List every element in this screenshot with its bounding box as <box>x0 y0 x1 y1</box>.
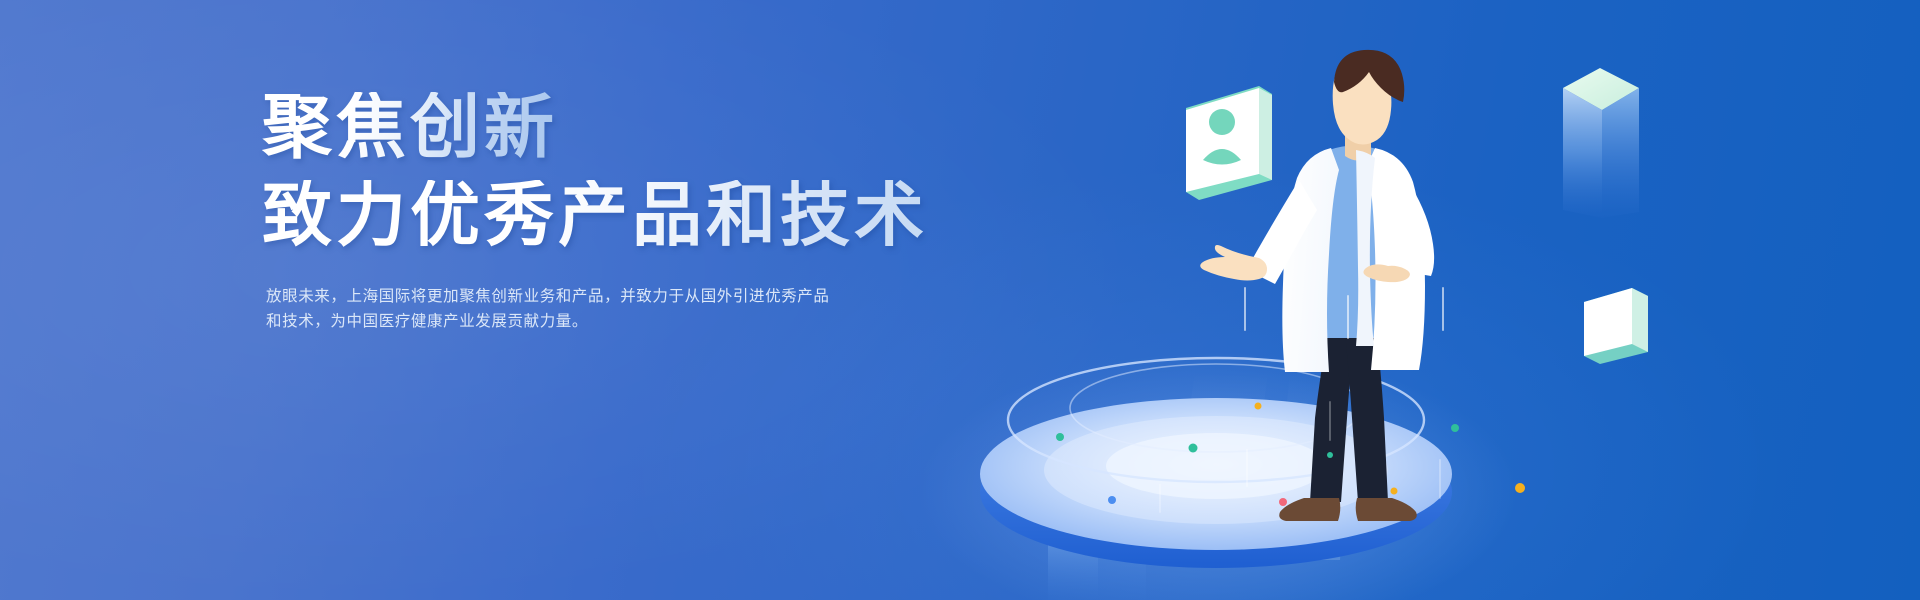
particle-teal <box>1056 433 1064 441</box>
bar-left <box>1048 414 1146 600</box>
hand-point <box>1200 245 1267 281</box>
hand-hip <box>1363 264 1409 282</box>
shoe-right <box>1356 498 1417 521</box>
particle-yellow <box>1391 488 1398 495</box>
headline-line-2-text: 致力优秀产品和技术 <box>262 180 928 250</box>
arm-left <box>1247 180 1317 284</box>
profile-card-icon <box>1186 86 1272 200</box>
description-line-2: 和技术，为中国医疗健康产业发展贡献力量。 <box>266 309 866 334</box>
coat-lapel <box>1356 150 1375 346</box>
headline-line-2: 致力优秀产品和技术 <box>262 180 902 250</box>
platform-ring-inner <box>1070 364 1362 452</box>
particle-blue <box>1108 496 1116 504</box>
particle-teal <box>1451 424 1459 432</box>
doctor-figure <box>1200 50 1434 521</box>
particle-pink <box>1279 498 1287 506</box>
leg-left <box>1310 322 1356 502</box>
hero-banner: 聚焦创新 致力优秀产品和技术 放眼未来，上海国际将更加聚焦创新业务和产品，并致力… <box>0 0 1920 600</box>
avatar-glyph <box>1203 109 1241 165</box>
banner-copy: 聚焦创新 致力优秀产品和技术 放眼未来，上海国际将更加聚焦创新业务和产品，并致力… <box>262 92 902 334</box>
particle-teal <box>1189 444 1198 453</box>
particle-yellow <box>1515 483 1525 493</box>
headline-line-1-text: 聚焦创新 <box>262 92 558 162</box>
banner-description: 放眼未来，上海国际将更加聚焦创新业务和产品，并致力于从国外引进优秀产品 和技术，… <box>266 284 866 334</box>
headline-line-1: 聚焦创新 <box>262 92 902 162</box>
shirt <box>1324 146 1385 339</box>
shoe-left <box>1279 498 1340 521</box>
platform-ring-outer <box>1008 358 1424 482</box>
particle-teal <box>1327 452 1333 458</box>
particles <box>1056 403 1525 507</box>
platform-glow <box>918 352 1518 600</box>
hair <box>1334 50 1404 102</box>
head <box>1333 60 1392 145</box>
particle-yellow <box>1255 403 1262 410</box>
hologram-beams <box>1168 372 1352 560</box>
coat-left <box>1282 148 1339 372</box>
light-streaks <box>1160 288 1443 512</box>
arm-right <box>1388 186 1434 276</box>
description-line-1: 放眼未来，上海国际将更加聚焦创新业务和产品，并致力于从国外引进优秀产品 <box>266 284 866 309</box>
bar-right-tall <box>1563 68 1639 218</box>
hologram-platform <box>980 358 1452 568</box>
neck <box>1345 128 1371 161</box>
leg-right <box>1344 322 1388 502</box>
coat-right <box>1367 148 1425 370</box>
card-right-low <box>1584 288 1648 364</box>
